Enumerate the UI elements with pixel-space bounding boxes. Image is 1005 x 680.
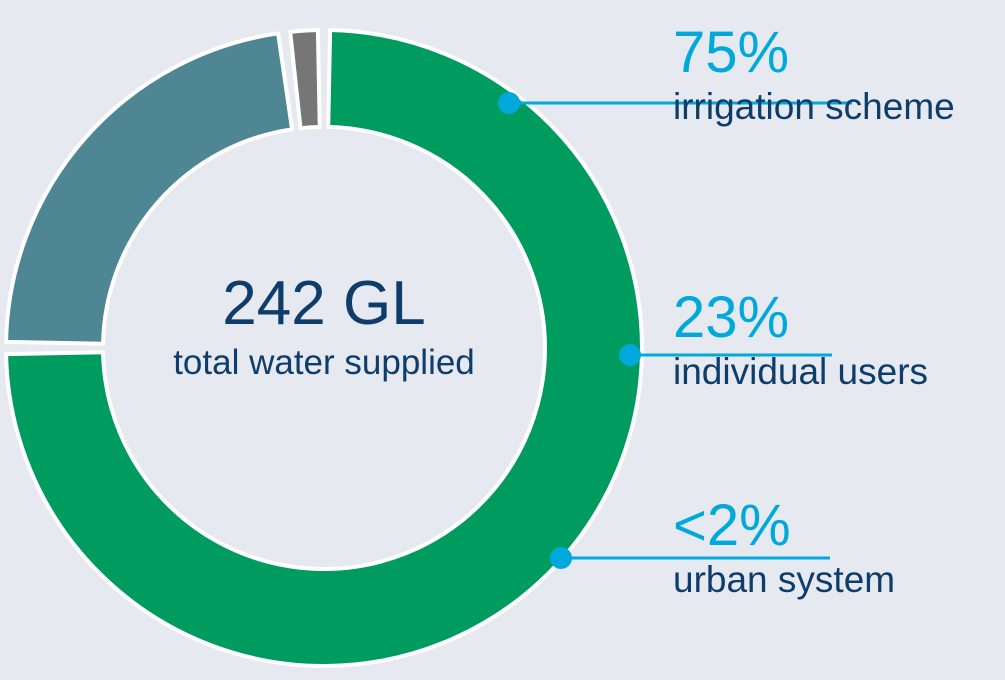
callout-individual-users[interactable]: 23% individual users (673, 287, 928, 394)
callout-individual-name: individual users (673, 350, 928, 394)
leader-dot-urban (550, 547, 572, 569)
donut-segment-individual-users[interactable] (6, 33, 292, 343)
callout-urban-name: urban system (673, 558, 895, 602)
callout-urban-system[interactable]: <2% urban system (673, 495, 895, 602)
donut-segment-urban-system[interactable] (290, 30, 320, 128)
leader-dot-individual (619, 344, 641, 366)
leader-dot-irrigation (498, 92, 520, 114)
callout-irrigation-scheme[interactable]: 75% irrigation scheme (673, 22, 955, 129)
callout-irrigation-name: irrigation scheme (673, 85, 955, 129)
callout-individual-percent: 23% (673, 287, 928, 349)
callout-urban-percent: <2% (673, 495, 895, 557)
callout-irrigation-percent: 75% (673, 22, 955, 84)
chart-canvas: 242 GL total water supplied 75% irrigati… (0, 0, 1005, 680)
donut-segment-group (6, 30, 642, 666)
